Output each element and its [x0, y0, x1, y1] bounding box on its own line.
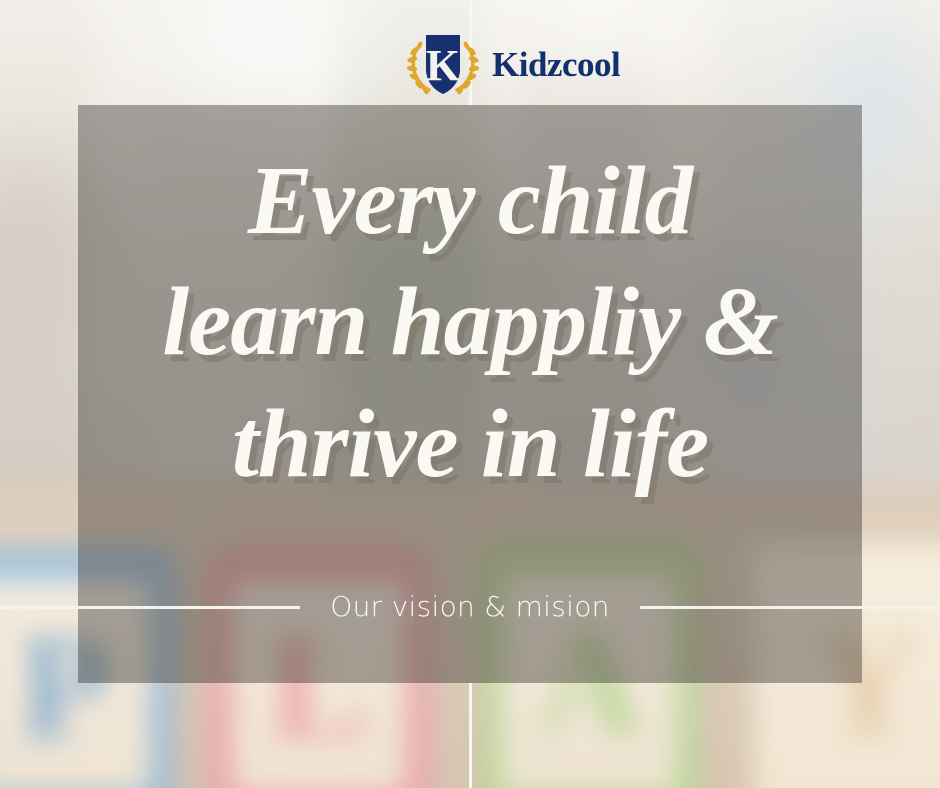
- headline-line-1: Every child: [78, 140, 862, 261]
- vertical-divider-bottom: [469, 683, 472, 788]
- poster-canvas: P L A Y: [0, 0, 940, 788]
- subtitle-text: Our vision & mision: [300, 587, 640, 627]
- brand-logo: K Kidzcool: [404, 31, 644, 99]
- brand-wordmark: Kidzcool: [492, 45, 620, 85]
- subtitle-row: Our vision & mision: [0, 587, 940, 627]
- headline-line-2: learn happliy &: [78, 261, 862, 382]
- subtitle-rule-right: [640, 606, 940, 609]
- background-color-column: [0, 0, 88, 503]
- svg-text:K: K: [426, 41, 460, 90]
- headline: Every child learn happliy & thrive in li…: [78, 140, 862, 504]
- background-color-column: [873, 0, 940, 503]
- headline-line-3: thrive in life: [78, 383, 862, 504]
- subtitle-rule-left: [0, 606, 300, 609]
- shield-laurel-k-icon: K: [404, 31, 482, 99]
